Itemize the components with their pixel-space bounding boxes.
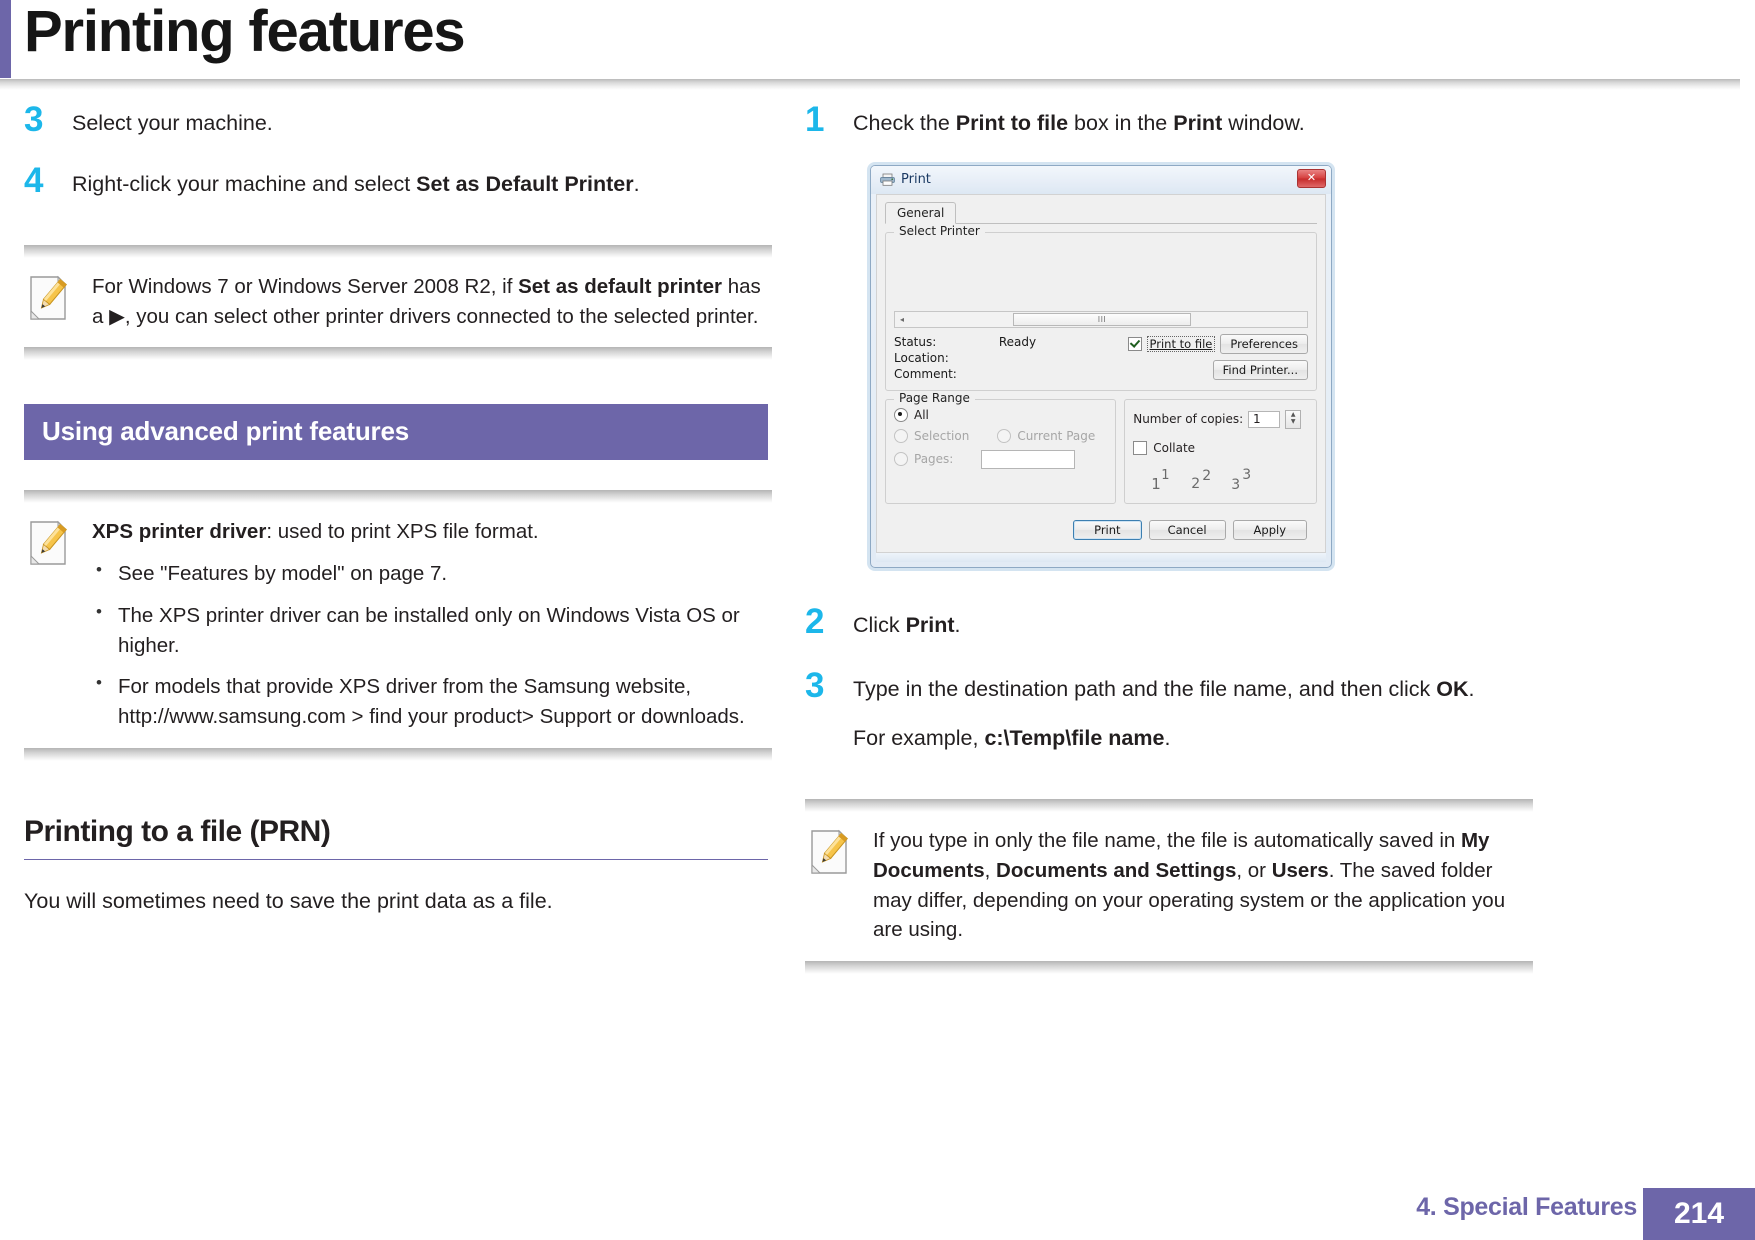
collate-art-digit: 1 xyxy=(1161,468,1169,483)
page-title: Printing features xyxy=(24,0,464,66)
radio-row-selection-current[interactable]: Selection Current Page xyxy=(894,429,1107,443)
step-number: 3 xyxy=(24,106,72,135)
header-divider xyxy=(0,79,1740,90)
step-number: 4 xyxy=(24,167,72,196)
example-run: For example, xyxy=(853,726,984,750)
step-text-bold: Set as Default Printer xyxy=(416,172,633,196)
page-header: Printing features xyxy=(0,0,1755,92)
note-text: If you type in only the file name, the f… xyxy=(873,826,1529,945)
collate-art-digit: 3 xyxy=(1231,477,1240,493)
printer-actions: Print to file Preferences Find Printer..… xyxy=(1128,334,1308,382)
copies-row: Number of copies: 1 ▲▼ xyxy=(1133,410,1308,429)
note-pencil-icon xyxy=(28,275,72,321)
note-top-rule xyxy=(805,799,1533,812)
left-column: 3 Select your machine. 4 Right-click you… xyxy=(24,104,772,917)
radio-all-label[interactable]: All xyxy=(914,408,929,422)
step-1: 1 Check the Print to file box in the Pri… xyxy=(805,104,1533,139)
radio-row-pages[interactable]: Pages: xyxy=(894,450,1107,469)
note-text-bold-3: Users xyxy=(1272,859,1329,882)
radio-pages[interactable] xyxy=(894,452,908,466)
dialog-footer: Print Cancel Apply xyxy=(885,512,1317,544)
step-text-run-tail: . xyxy=(1469,677,1475,701)
cancel-button[interactable]: Cancel xyxy=(1149,520,1226,540)
apply-button[interactable]: Apply xyxy=(1233,520,1307,540)
print-dialog-figure: Print ✕ General Select Printer ◂ III xyxy=(870,165,1533,568)
step-text: Type in the destination path and the fil… xyxy=(853,670,1533,753)
status-labels: Status: Location: Comment: xyxy=(894,334,957,382)
step-text-run: Select your machine. xyxy=(72,111,273,135)
note-top-rule xyxy=(24,490,772,503)
note-xps-printer-driver: XPS printer driver: used to print XPS fi… xyxy=(24,490,772,760)
step-text-run: Type in the destination path and the fil… xyxy=(853,677,1436,701)
dialog-tabstrip: General xyxy=(885,201,1317,224)
dialog-titlebar: Print ✕ xyxy=(871,166,1331,194)
note-bottom-rule xyxy=(24,748,772,761)
footer-page-number: 214 xyxy=(1643,1188,1755,1240)
dialog-body: General Select Printer ◂ III Status: xyxy=(876,194,1326,553)
note-pencil-icon xyxy=(809,829,853,875)
group-page-range-label: Page Range xyxy=(894,391,975,405)
copies-value: 1 xyxy=(1253,412,1261,426)
step-text-run: Right-click your machine and select xyxy=(72,172,416,196)
collate-art-digit: 2 xyxy=(1202,468,1211,484)
step-3-right: 3 Type in the destination path and the f… xyxy=(805,670,1533,753)
status-label: Status: xyxy=(894,334,957,350)
note-text: For Windows 7 or Windows Server 2008 R2,… xyxy=(92,272,768,331)
note-text: XPS printer driver: used to print XPS fi… xyxy=(92,517,768,731)
printer-list[interactable] xyxy=(894,241,1308,309)
step-text-bold-2: Print xyxy=(1173,111,1222,135)
group-copies: Number of copies: 1 ▲▼ Collate 1 1 xyxy=(1124,399,1317,504)
copies-input[interactable]: 1 xyxy=(1248,411,1280,428)
note-default-printer: For Windows 7 or Windows Server 2008 R2,… xyxy=(24,245,772,360)
example-path-bold: c:\Temp\file name xyxy=(984,726,1164,750)
step-text: Click Print. xyxy=(853,606,1533,641)
step-text-run-tail: . xyxy=(634,172,640,196)
step-number: 3 xyxy=(805,672,853,701)
sub-heading-rule xyxy=(24,859,768,860)
note-text-run: If you type in only the file name, the f… xyxy=(873,829,1461,852)
note-text-bold-2: Documents and Settings xyxy=(996,859,1236,882)
collate-art-digit: 1 xyxy=(1151,475,1161,493)
page-footer: 4. Special Features 214 xyxy=(0,1178,1755,1240)
step-text-bold: Print xyxy=(906,613,955,637)
step-text-run-tail: . xyxy=(955,613,961,637)
copies-spinner[interactable]: ▲▼ xyxy=(1285,410,1301,429)
header-accent-bar xyxy=(0,0,11,78)
step-example-line: For example, c:\Temp\file name. xyxy=(853,723,1533,754)
find-printer-row: Find Printer... xyxy=(1128,360,1308,380)
collate-art-digit: 3 xyxy=(1242,467,1251,483)
status-value: Ready xyxy=(999,334,1036,350)
list-item: The XPS printer driver can be installed … xyxy=(92,601,768,660)
comment-label: Comment: xyxy=(894,366,957,382)
page-range-and-copies: Page Range All Selection Current Page xyxy=(885,399,1317,512)
group-page-range: Page Range All Selection Current Page xyxy=(885,399,1116,504)
copies-label: Number of copies: xyxy=(1133,412,1243,426)
section-header-using-advanced-print-features: Using advanced print features xyxy=(24,404,768,460)
print-to-file-label[interactable]: Print to file xyxy=(1147,336,1216,352)
note-lead-line: XPS printer driver: used to print XPS fi… xyxy=(92,517,768,547)
group-select-printer: Select Printer ◂ III Status: Location: C… xyxy=(885,232,1317,391)
step-text-run-tail: window. xyxy=(1222,111,1304,135)
step-number: 1 xyxy=(805,106,853,135)
pages-input[interactable] xyxy=(981,450,1075,469)
note-bottom-rule xyxy=(24,347,772,360)
note-saved-folder: If you type in only the file name, the f… xyxy=(805,799,1533,974)
comment-value xyxy=(999,366,1036,382)
note-text-run: : used to print XPS file format. xyxy=(266,520,538,543)
note-bottom-rule xyxy=(805,961,1533,974)
radio-row-all[interactable]: All xyxy=(894,408,1107,422)
footer-chapter-label: 4. Special Features xyxy=(1416,1193,1637,1222)
step-3: 3 Select your machine. xyxy=(24,104,772,139)
status-values: Ready xyxy=(999,334,1036,382)
print-dialog-window: Print ✕ General Select Printer ◂ III xyxy=(870,165,1332,568)
note-pencil-icon xyxy=(28,520,72,566)
location-label: Location: xyxy=(894,350,957,366)
step-4: 4 Right-click your machine and select Se… xyxy=(24,165,772,200)
radio-pages-label[interactable]: Pages: xyxy=(914,452,953,466)
step-text-run-mid: box in the xyxy=(1068,111,1173,135)
radio-selection[interactable] xyxy=(894,429,908,443)
note-bullet-list: See "Features by model" on page 7. The X… xyxy=(92,559,768,732)
step-2: 2 Click Print. xyxy=(805,606,1533,641)
radio-selection-label[interactable]: Selection xyxy=(914,429,969,443)
dialog-title: Print xyxy=(901,172,931,187)
step-text-run: Click xyxy=(853,613,906,637)
scroll-left-arrow-icon[interactable]: ◂ xyxy=(895,315,909,324)
scrollbar-thumb[interactable]: III xyxy=(1013,313,1191,326)
collate-label[interactable]: Collate xyxy=(1153,441,1195,455)
group-select-printer-label: Select Printer xyxy=(894,224,985,238)
printer-icon xyxy=(880,173,895,186)
right-column: 1 Check the Print to file box in the Pri… xyxy=(805,104,1533,994)
step-text-line: Type in the destination path and the fil… xyxy=(853,674,1533,705)
print-to-file-row[interactable]: Print to file Preferences xyxy=(1128,334,1308,354)
step-text: Right-click your machine and select Set … xyxy=(72,165,772,200)
note-text-bold: Set as default printer xyxy=(518,275,722,298)
printer-list-hscrollbar[interactable]: ◂ III xyxy=(894,311,1308,328)
dialog-bottom-strip xyxy=(876,553,1326,562)
radio-current-page[interactable] xyxy=(997,429,1011,443)
close-icon[interactable]: ✕ xyxy=(1297,169,1326,188)
collate-illustration: 1 1 2 2 3 3 xyxy=(1151,465,1308,495)
print-to-file-checkbox[interactable] xyxy=(1128,337,1142,351)
step-text-run: Check the xyxy=(853,111,956,135)
step-text: Select your machine. xyxy=(72,104,772,139)
step-text-bold: OK xyxy=(1436,677,1468,701)
printer-status-block: Status: Location: Comment: Ready xyxy=(894,334,1308,382)
sub-heading-printing-to-a-file: Printing to a file (PRN) xyxy=(24,815,772,849)
step-text: Check the Print to file box in the Print… xyxy=(853,104,1533,139)
radio-current-page-label[interactable]: Current Page xyxy=(1017,429,1095,443)
collate-checkbox[interactable] xyxy=(1133,441,1147,455)
step-text-bold: Print to file xyxy=(956,111,1068,135)
find-printer-button[interactable]: Find Printer... xyxy=(1213,360,1308,380)
list-item: See "Features by model" on page 7. xyxy=(92,559,768,589)
list-item: For models that provide XPS driver from … xyxy=(92,672,768,731)
radio-all[interactable] xyxy=(894,408,908,422)
note-text-run-2: , xyxy=(985,859,996,882)
collate-art-digit: 2 xyxy=(1191,476,1200,492)
print-button[interactable]: Print xyxy=(1073,520,1141,540)
note-text-bold: XPS printer driver xyxy=(92,520,266,543)
note-text-run: For Windows 7 or Windows Server 2008 R2,… xyxy=(92,275,518,298)
body-paragraph: You will sometimes need to save the prin… xyxy=(24,886,772,917)
tab-general[interactable]: General xyxy=(885,202,956,224)
note-text-run-3: , or xyxy=(1236,859,1271,882)
example-run-tail: . xyxy=(1164,726,1170,750)
collate-row[interactable]: Collate xyxy=(1133,441,1308,455)
preferences-button[interactable]: Preferences xyxy=(1220,334,1308,354)
step-number: 2 xyxy=(805,608,853,637)
note-top-rule xyxy=(24,245,772,258)
location-value xyxy=(999,350,1036,366)
